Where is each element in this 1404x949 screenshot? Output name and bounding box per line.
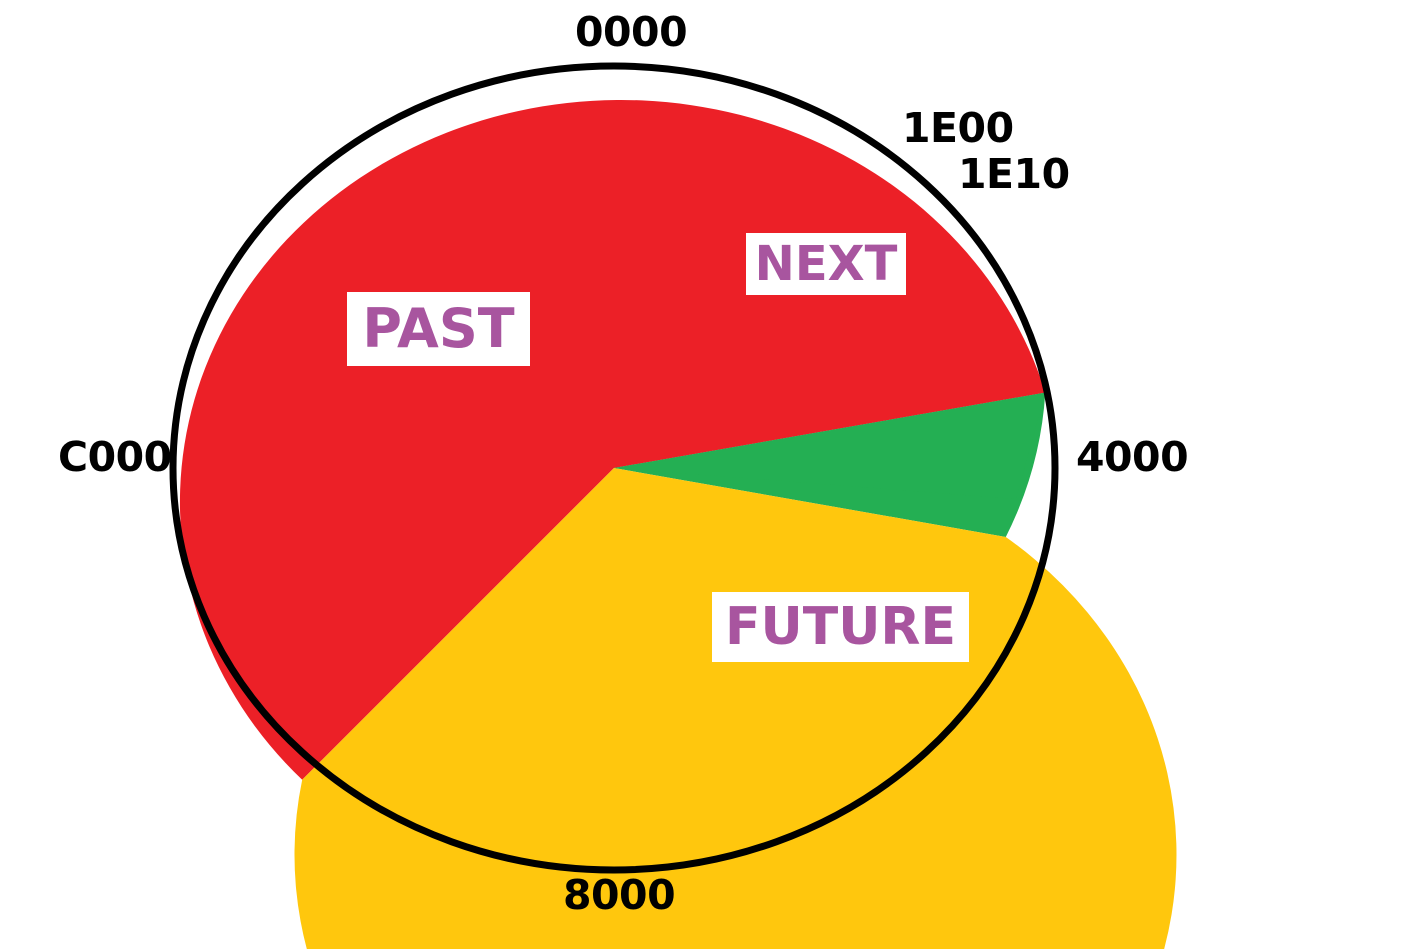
tick-8000: 8000 xyxy=(563,875,675,916)
sector-label-past: PAST xyxy=(347,292,530,366)
sector-label-next: NEXT xyxy=(746,233,906,295)
tick-C000: C000 xyxy=(58,437,172,478)
tick-1E00: 1E00 xyxy=(902,108,1014,149)
pie-chart-svg xyxy=(0,0,1404,949)
sequence-space-wheel-diagram: 0000 1E00 1E10 4000 8000 C000 PAST NEXT … xyxy=(0,0,1404,949)
tick-0000: 0000 xyxy=(575,12,687,53)
tick-4000: 4000 xyxy=(1076,437,1188,478)
tick-1E10: 1E10 xyxy=(958,154,1070,195)
sector-label-future: FUTURE xyxy=(712,592,969,662)
